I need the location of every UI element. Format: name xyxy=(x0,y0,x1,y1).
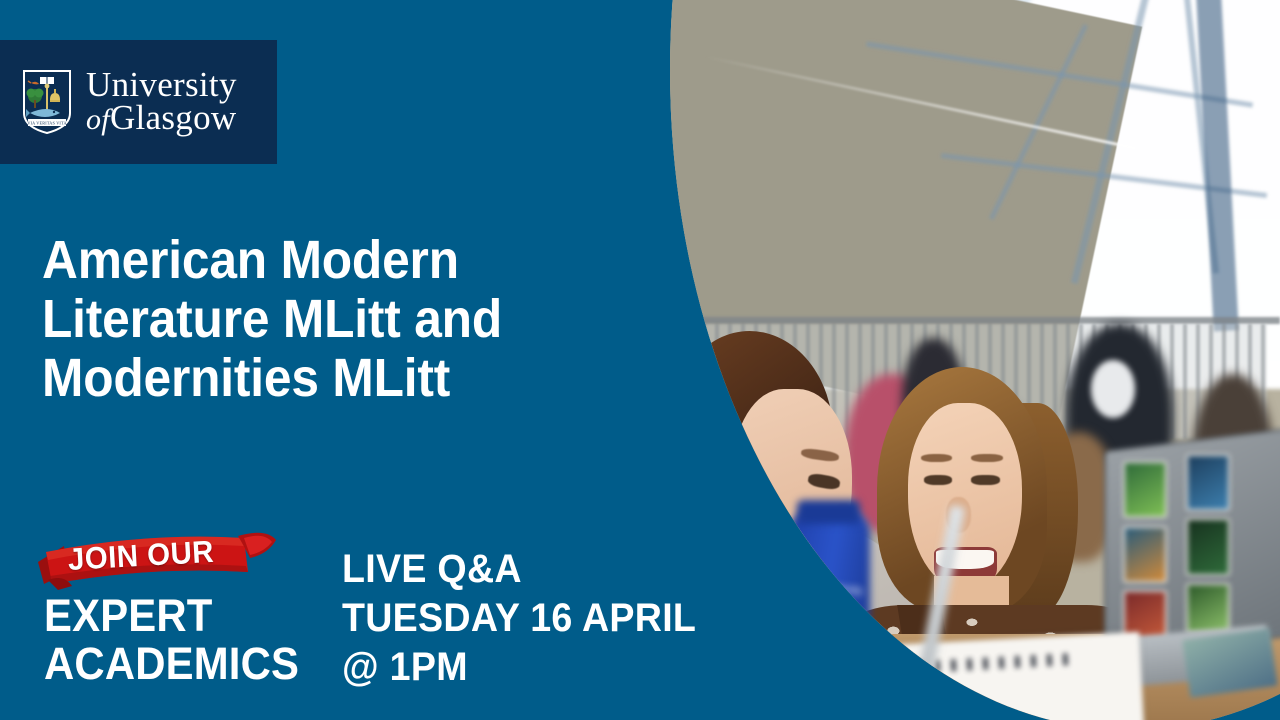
student-right-eyebrow xyxy=(921,454,953,463)
laptop-sticker xyxy=(1123,526,1167,584)
background-person xyxy=(650,353,700,511)
page-title: American Modern Literature MLitt and Mod… xyxy=(42,231,612,408)
laptop-sticker xyxy=(1186,518,1230,576)
event-line-1: LIVE Q&A xyxy=(342,545,696,594)
student-right-eye xyxy=(971,475,999,485)
laptop-sticker xyxy=(1186,454,1230,512)
notebook xyxy=(1182,628,1277,697)
student-photo: JU xyxy=(650,0,1280,720)
student-right-eyebrow xyxy=(971,454,1003,463)
bottle-label: University of Glasgow xyxy=(802,581,863,720)
university-wordmark: University ofGlasgow xyxy=(86,69,237,135)
join-our-ribbon: JOIN OUR xyxy=(38,528,280,594)
photo-scene: JU xyxy=(650,0,1280,720)
laptop-sticker xyxy=(1123,461,1167,519)
student-right-eye xyxy=(924,475,952,485)
event-line-3: @ 1PM xyxy=(342,643,696,692)
event-details: LIVE Q&A TUESDAY 16 APRIL @ 1PM xyxy=(342,545,696,691)
expert-academics-text: EXPERT ACADEMICS xyxy=(44,592,299,687)
badge-line-1: EXPERT xyxy=(44,592,299,640)
promo-banner: JU xyxy=(0,0,1280,720)
student-left-hand xyxy=(688,670,770,720)
event-line-2: TUESDAY 16 APRIL xyxy=(342,594,696,643)
university-logo-box: VIA VERITAS VITA University ofGlasgow xyxy=(0,40,277,164)
student-left-ear xyxy=(726,454,758,512)
face-mask xyxy=(1091,360,1135,418)
glasgow-crest-icon: VIA VERITAS VITA xyxy=(22,69,72,135)
bottle-cap xyxy=(797,500,860,524)
railing-handrail xyxy=(650,317,1280,324)
student-left-ponytail xyxy=(650,377,741,545)
badge-line-2: ACADEMICS xyxy=(44,640,299,688)
wordmark-of: of xyxy=(86,103,110,136)
wordmark-glasgow: Glasgow xyxy=(110,98,237,137)
hoodie-logo: JU xyxy=(795,619,840,658)
laptop-sticker xyxy=(1186,583,1230,633)
papers xyxy=(786,632,1144,720)
svg-text:VIA VERITAS VITA: VIA VERITAS VITA xyxy=(27,120,66,125)
water-bottle xyxy=(789,511,871,720)
wordmark-line-2: ofGlasgow xyxy=(86,102,237,135)
